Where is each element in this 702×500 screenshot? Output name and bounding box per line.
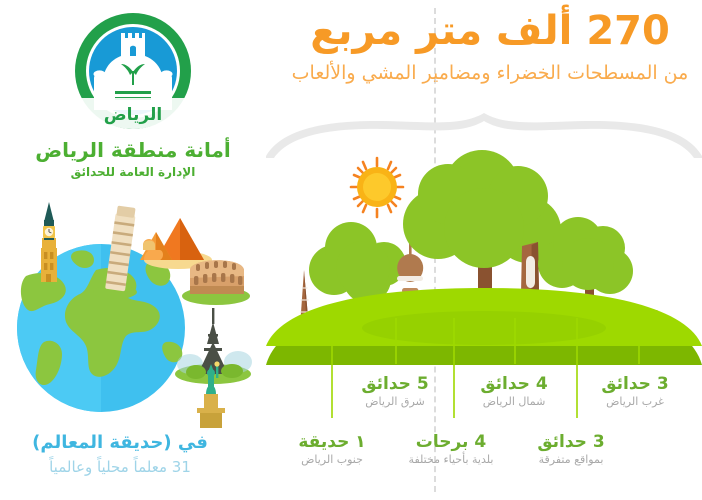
stat-item-east-riyadh: 5 حدائق شرق الرياض	[341, 374, 449, 410]
stat-value: 4 حدائق	[460, 374, 568, 394]
main-panel: 270 ألف متر مربع من المسطحات الخضراء ومض…	[266, 0, 702, 500]
landmarks-count-note: 31 معلماً محلياً وعالمياً	[0, 458, 240, 476]
stat-note: شمال الرياض	[460, 395, 568, 409]
stat-note: غرب الرياض	[582, 395, 688, 409]
stat-item-municipal-squares: 4 برحات بلدية بأحياء مختلفة	[390, 432, 512, 468]
stat-value: 3 حدائق	[582, 374, 688, 394]
pyramids-sphinx-icon	[140, 218, 212, 269]
sun-icon	[351, 158, 403, 217]
page-subtitle: من المسطحات الخضراء ومضامير المشي والألع…	[278, 62, 702, 84]
stat-item-north-riyadh: 4 حدائق شمال الرياض	[460, 374, 568, 410]
stat-note: بمواقع متفرقة	[516, 453, 626, 467]
stat-note: بلدية بأحياء مختلفة	[390, 453, 512, 467]
page-title: 270 ألف متر مربع	[278, 8, 702, 54]
stat-item-south-riyadh: ١ حديقة جنوب الرياض	[278, 432, 386, 468]
stat-value: ١ حديقة	[278, 432, 386, 452]
colosseum-icon	[182, 260, 250, 305]
stat-value: 5 حدائق	[341, 374, 449, 394]
big-ben-icon	[41, 202, 57, 282]
globe-landmarks-illustration	[0, 198, 266, 430]
stat-value: 4 برحات	[390, 432, 512, 452]
logo-wordmark: الرياض	[104, 105, 162, 125]
stat-note: شرق الرياض	[341, 395, 449, 409]
branding-panel: الرياض أمانة منطقة الرياض الإدارة العامة…	[0, 0, 266, 500]
stat-note: جنوب الرياض	[278, 453, 386, 467]
organization-department: الإدارة العامة للحدائق	[0, 165, 266, 179]
infographic-canvas: 270 ألف متر مربع من المسطحات الخضراء ومض…	[0, 0, 702, 500]
stat-item-scattered-locations: 3 حدائق بمواقع متفرقة	[516, 432, 626, 468]
riyadh-municipality-logo: الرياض	[63, 10, 203, 135]
stat-item-west-riyadh: 3 حدائق غرب الرياض	[582, 374, 688, 410]
landmarks-park-title: في (حديقة المعالم)	[0, 432, 240, 453]
organization-name: أمانة منطقة الرياض	[0, 138, 266, 162]
stat-value: 3 حدائق	[516, 432, 626, 452]
